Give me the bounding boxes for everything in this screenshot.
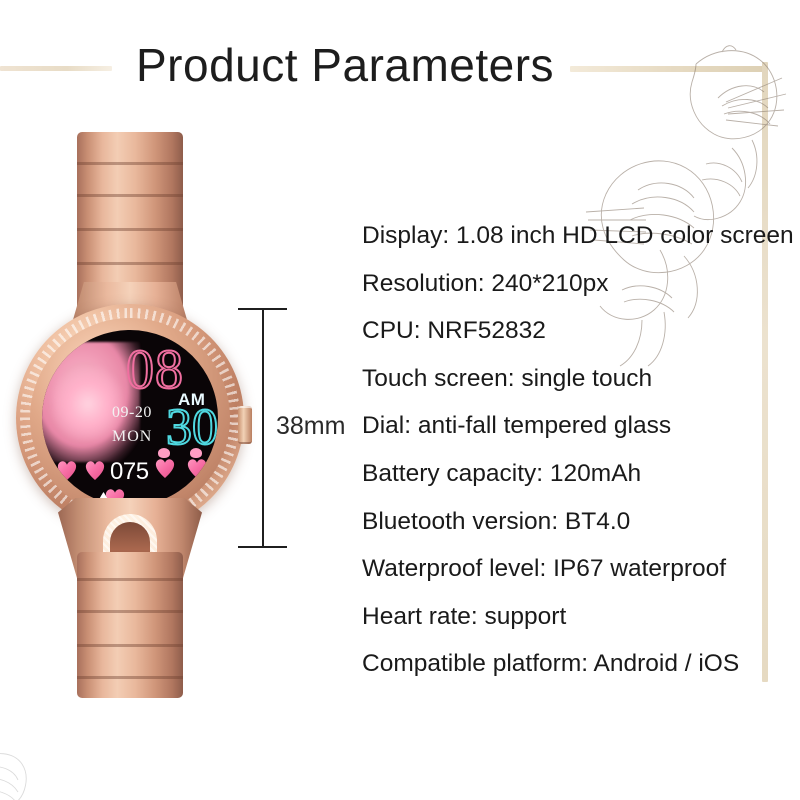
dimension-bracket: 38mm — [236, 308, 356, 548]
product-parameters-page: Product Parameters 38mm 08 AM — [0, 0, 800, 800]
spec-item-touch: Touch screen: single touch — [362, 355, 782, 403]
spec-item-battery: Battery capacity: 120mAh — [362, 450, 782, 498]
spec-item-waterproof: Waterproof level: IP67 waterproof — [362, 545, 782, 593]
watch-case: 08 AM 30 09-20 MON 075 — [16, 304, 244, 532]
heart-icon — [154, 458, 176, 478]
spec-item-heartrate: Heart rate: support — [362, 593, 782, 641]
watch-weekday: MON — [112, 428, 152, 446]
specification-list: Display: 1.08 inch HD LCD color screen R… — [362, 212, 782, 688]
bird-icon — [190, 448, 202, 458]
spec-item-cpu: CPU: NRF52832 — [362, 307, 782, 355]
decor-rule-left — [0, 66, 112, 71]
spec-item-display: Display: 1.08 inch HD LCD color screen — [362, 212, 782, 260]
dimension-label: 38mm — [276, 412, 345, 441]
page-title: Product Parameters — [136, 38, 554, 92]
spec-item-platform: Compatible platform: Android / iOS — [362, 640, 782, 688]
watch-band-bottom — [77, 552, 183, 698]
smartwatch-image: 08 AM 30 09-20 MON 075 — [14, 132, 246, 698]
watch-crown-button[interactable] — [238, 406, 252, 444]
heart-icon — [56, 460, 78, 480]
decor-rule-right — [570, 66, 766, 72]
dimension-line — [262, 308, 264, 548]
watch-date: 09-20 — [112, 404, 152, 422]
watch-hour: 08 — [126, 338, 184, 402]
heart-rate-row: 075 — [56, 456, 202, 486]
heart-icon — [84, 460, 106, 480]
bird-icon — [158, 448, 170, 458]
heart-rate-value: 075 — [110, 458, 149, 486]
spec-item-bluetooth: Bluetooth version: BT4.0 — [362, 498, 782, 546]
spec-item-dial: Dial: anti-fall tempered glass — [362, 402, 782, 450]
floral-ornament-bottom-left — [0, 720, 96, 800]
watch-screen[interactable]: 08 AM 30 09-20 MON 075 — [42, 330, 218, 506]
spec-item-resolution: Resolution: 240*210px — [362, 260, 782, 308]
